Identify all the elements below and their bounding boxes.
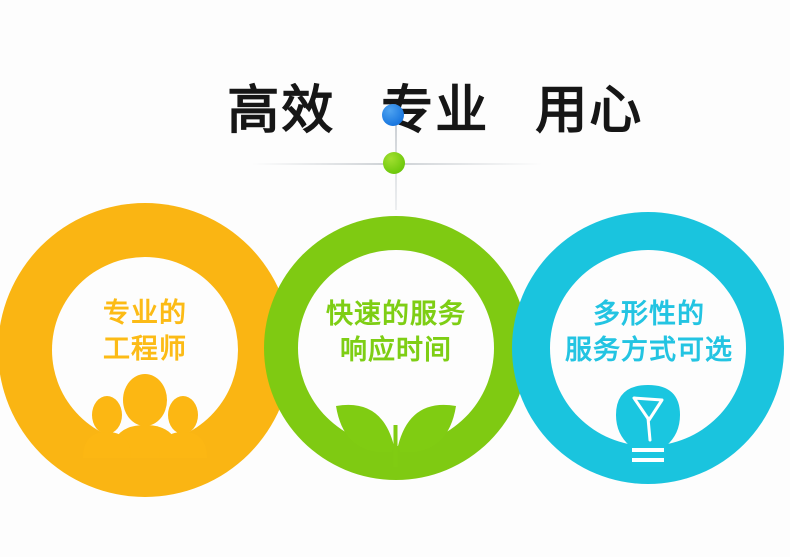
poster-canvas: 高效专业用心 (0, 0, 790, 557)
venn-rings (0, 0, 790, 557)
ring-cyan (0, 0, 790, 557)
